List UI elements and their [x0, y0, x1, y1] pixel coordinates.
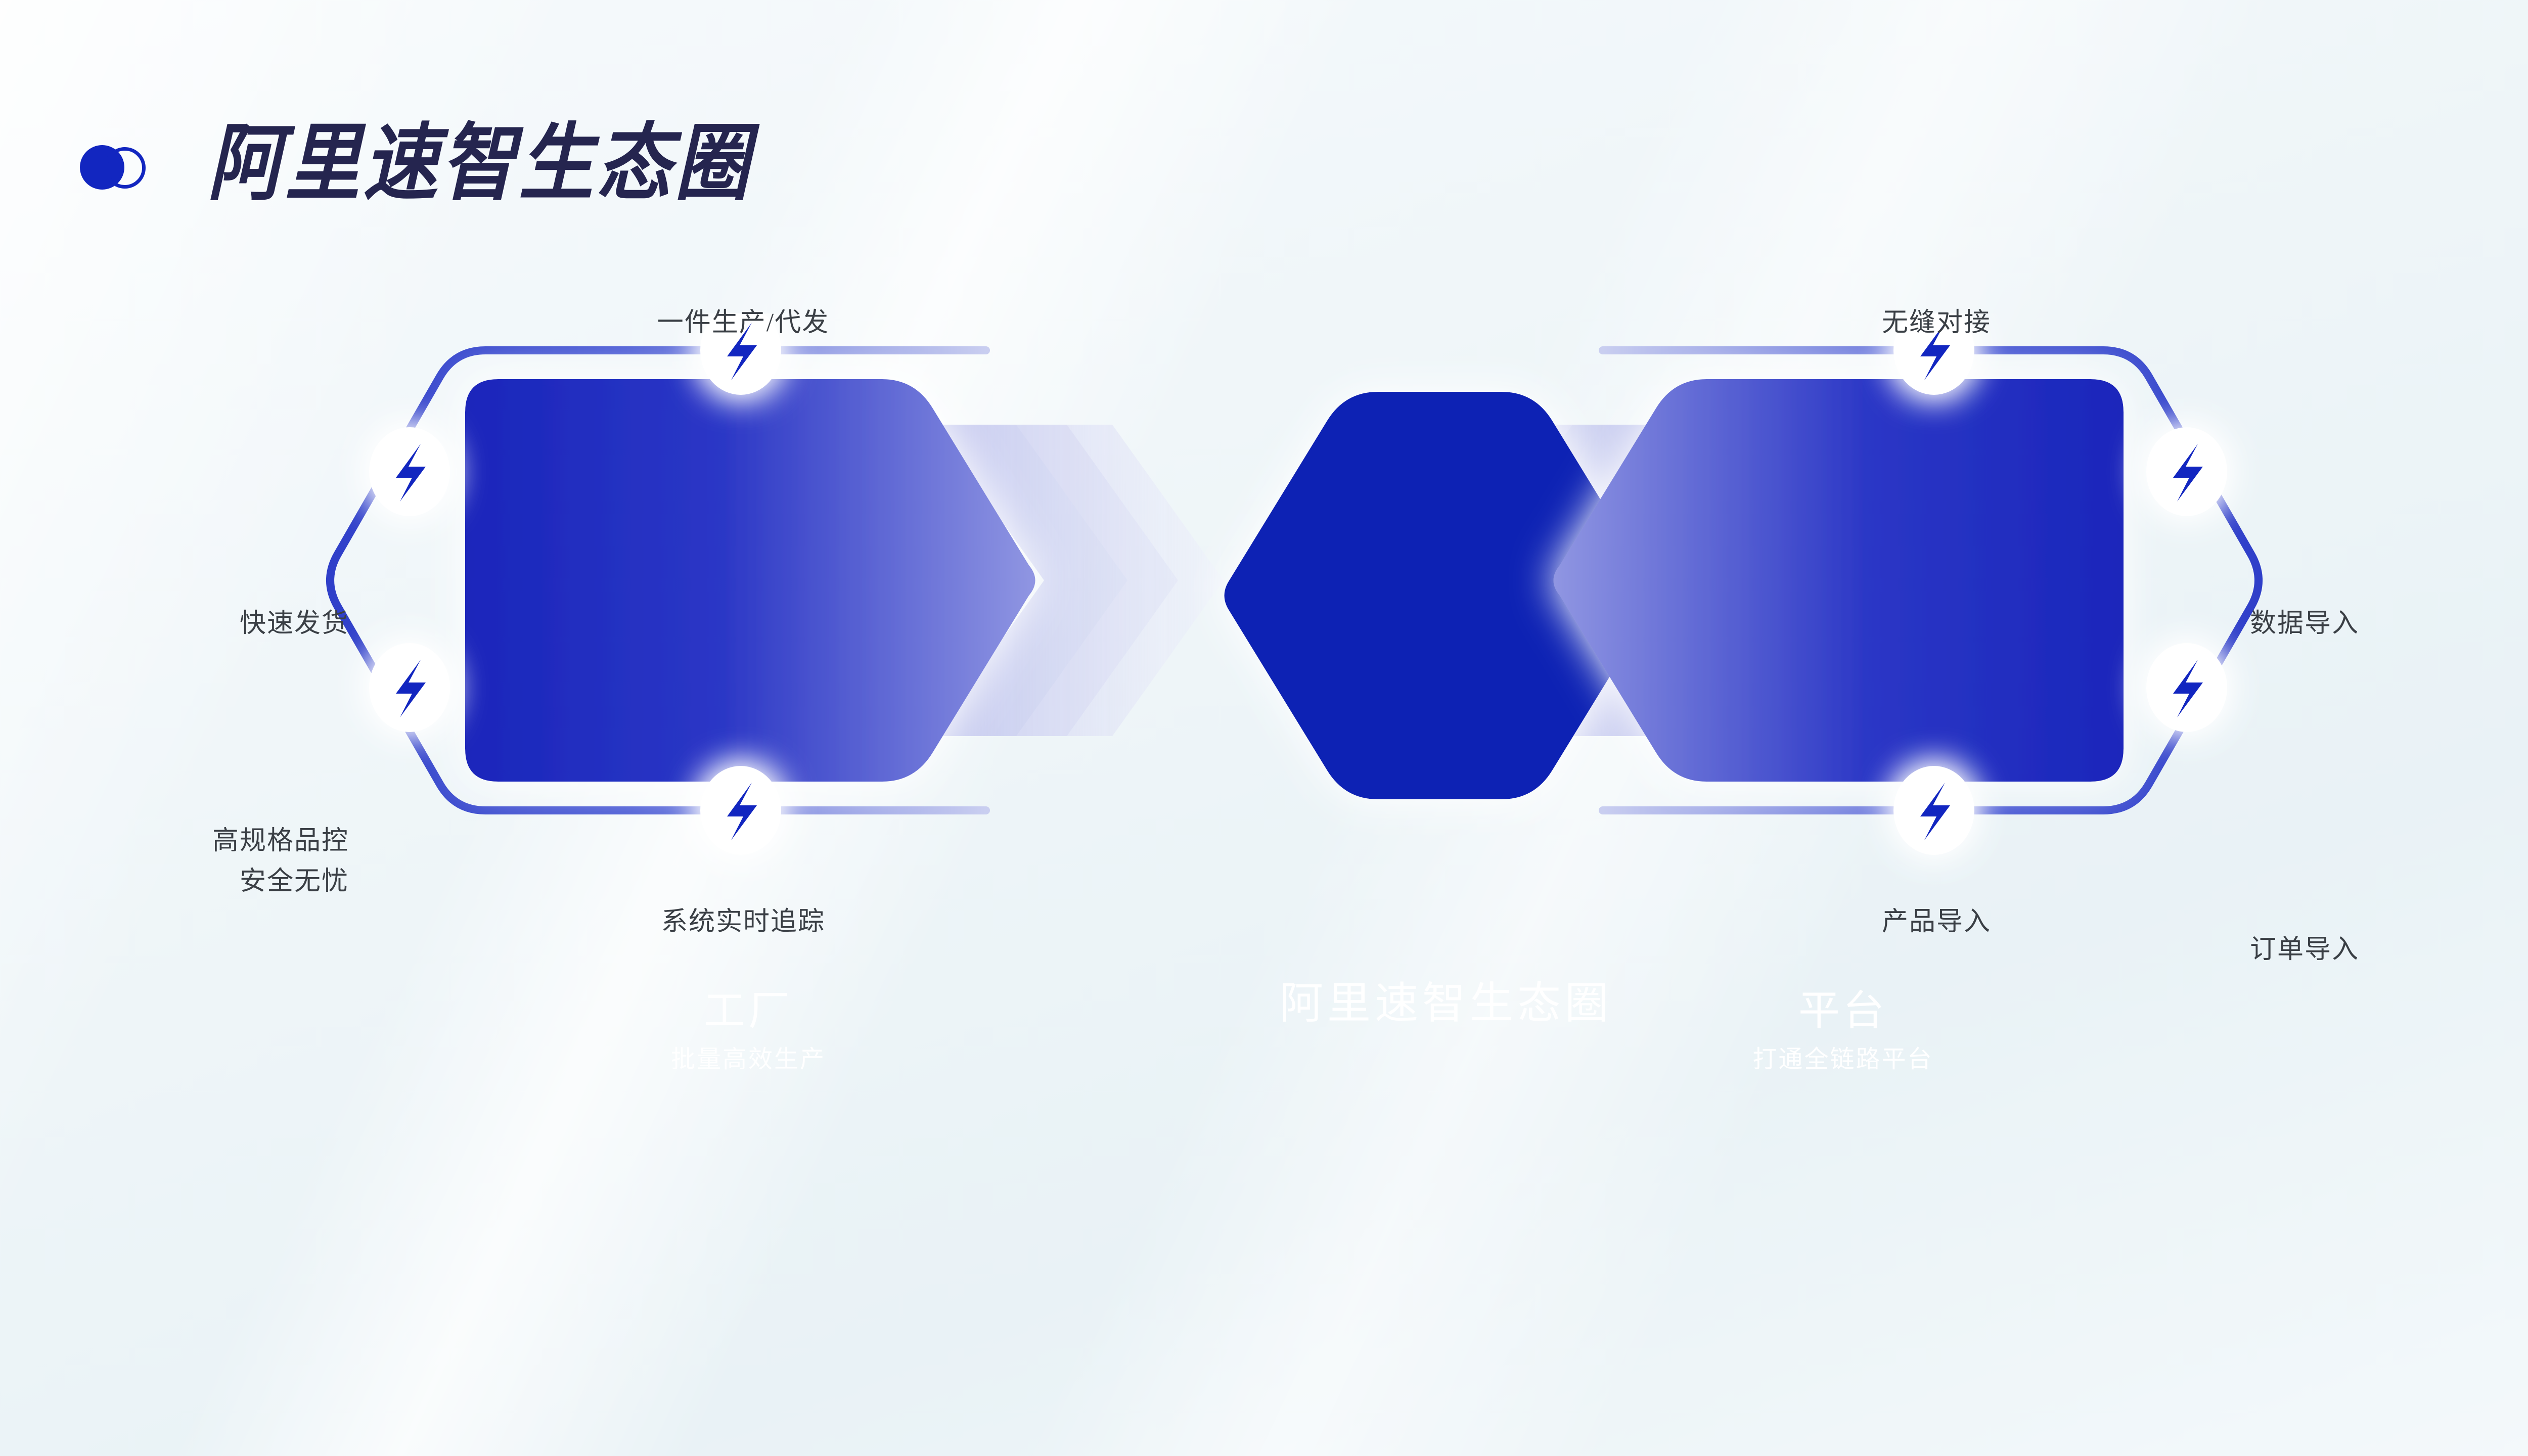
label-quality-control-line2: 安全无忧: [240, 862, 349, 901]
logo-circle-outline: [104, 147, 146, 189]
label-quality-control-line1: 高规格品控: [212, 822, 349, 861]
overlapping-circles-logo-icon: [76, 136, 152, 192]
label-fast-shipping: 快速发货: [240, 604, 349, 644]
hexagon-node-platform: [1554, 379, 2124, 782]
slide-canvas: 阿里速智生态圈: [0, 0, 2528, 1456]
label-realtime-tracking: 系统实时追踪: [661, 902, 825, 942]
ecosystem-diagram: 工厂 批量高效生产 阿里速智生态圈 平台 打通全链路平台 一件生产/代发 快速发…: [0, 313, 2528, 1350]
hexagon-node-factory: [465, 379, 1035, 782]
label-product-import: 产品导入: [1882, 902, 1991, 942]
page-title: 阿里速智生态圈: [207, 122, 752, 206]
label-order-import: 订单导入: [2250, 930, 2359, 970]
diagram-graphics: [0, 313, 2528, 1350]
label-data-import: 数据导入: [2250, 604, 2359, 644]
label-one-piece-production: 一件生产/代发: [657, 303, 829, 343]
slide-header: 阿里速智生态圈: [76, 126, 752, 201]
label-seamless-docking: 无缝对接: [1882, 303, 1991, 343]
